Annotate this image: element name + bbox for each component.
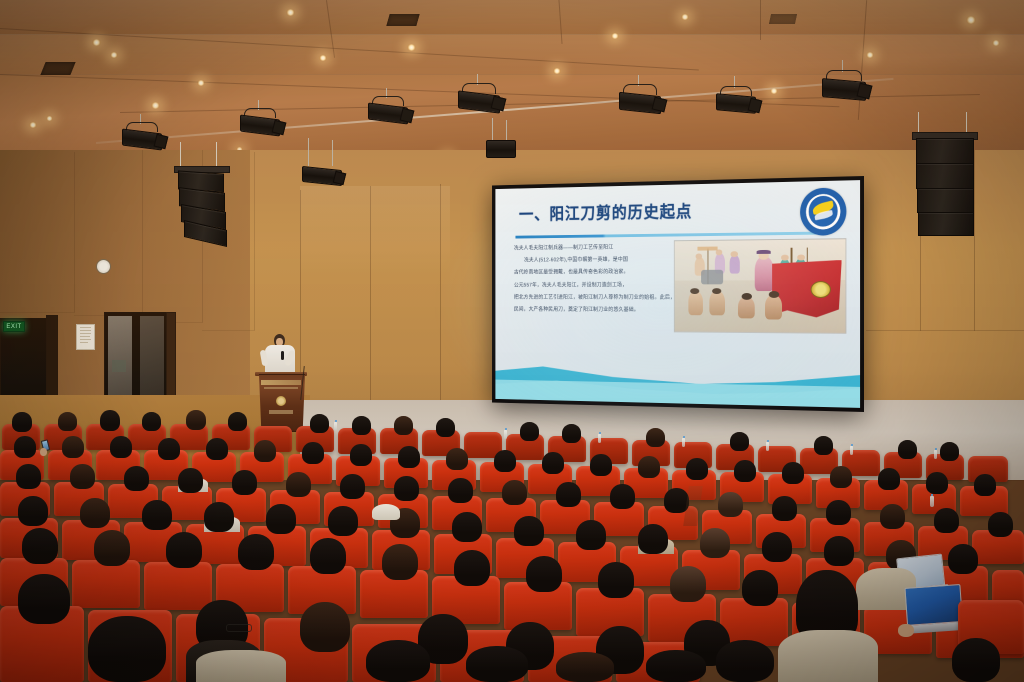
ceiling-vent xyxy=(769,14,797,24)
ceiling-downlight xyxy=(866,52,874,58)
slide-body-line: 古代岭南地区最受拥戴，也最具传奇色彩的政治家。 xyxy=(514,269,676,276)
ceiling-downlight xyxy=(553,68,561,74)
stage-light xyxy=(617,86,665,117)
audience-member xyxy=(328,506,358,536)
audience-member xyxy=(436,418,455,437)
audience-member xyxy=(366,640,430,682)
illustration-craftsman xyxy=(710,292,725,316)
illustration-figure-head xyxy=(741,293,751,299)
audience-member xyxy=(772,496,797,521)
audience-member xyxy=(952,638,1000,682)
illustration-figure-head xyxy=(797,255,805,261)
water-bottle xyxy=(504,430,507,439)
projection-screen: 一、阳江刀剪的历史起点 冼夫人毛夫阳江制兵器——制刀工艺传至阳江 冼夫人(512… xyxy=(492,176,864,412)
wall-highlight xyxy=(300,186,450,276)
ceiling-downlight xyxy=(92,39,101,46)
audience-cap xyxy=(372,504,400,520)
water-bottle xyxy=(682,438,685,447)
audience-member xyxy=(926,472,948,494)
audience-member xyxy=(302,442,324,464)
audience-member xyxy=(526,556,562,592)
podium-crest-icon xyxy=(276,396,286,406)
seat[interactable] xyxy=(72,560,140,608)
audience-member xyxy=(286,472,311,497)
audience-member xyxy=(254,440,276,462)
audience-member xyxy=(762,532,792,562)
eyeglasses xyxy=(226,624,252,632)
audience-member xyxy=(18,496,48,526)
audience-member xyxy=(80,498,110,528)
illustration-figure-head xyxy=(731,252,738,257)
water-bottle xyxy=(850,446,853,455)
audience-member xyxy=(18,574,70,624)
water-bottle xyxy=(766,442,769,451)
slide-heading-line: 冼夫人毛夫阳江制兵器——制刀工艺传至阳江 xyxy=(514,244,676,252)
audience-member xyxy=(610,484,635,509)
audience-member xyxy=(988,512,1013,537)
audience-member xyxy=(204,502,234,532)
audience-member xyxy=(598,562,634,598)
audience-member xyxy=(238,534,274,570)
illustration-leader xyxy=(755,257,774,292)
ceiling-downlight xyxy=(407,44,416,51)
audience-member xyxy=(830,466,852,488)
audience-member xyxy=(638,524,668,554)
audience-member xyxy=(898,440,917,459)
audience-member xyxy=(62,436,84,458)
audience-member xyxy=(448,478,473,503)
microphone-icon xyxy=(281,351,284,360)
line-array-speaker-left xyxy=(172,142,232,246)
audience-member xyxy=(646,428,665,447)
audience-member xyxy=(542,452,564,474)
audience-member xyxy=(576,520,606,550)
ceiling-downlight xyxy=(29,122,37,128)
ceiling-downlight xyxy=(319,55,327,61)
audience-member xyxy=(814,436,833,455)
audience-member xyxy=(142,500,172,530)
audience-member xyxy=(394,476,419,501)
door-interior-object xyxy=(112,360,126,372)
audience-member xyxy=(454,550,490,586)
audience-member xyxy=(158,438,180,460)
audience-member xyxy=(730,432,749,451)
audience-member xyxy=(948,544,978,574)
illustration-figure xyxy=(730,255,740,273)
audience-member xyxy=(352,416,371,435)
audience-member xyxy=(670,566,706,602)
illustration-craftsman xyxy=(738,297,755,319)
ceiling-downlight xyxy=(286,9,295,16)
stage-light xyxy=(820,72,870,104)
university-emblem-icon xyxy=(800,187,846,235)
seat[interactable] xyxy=(144,562,212,610)
audience-member xyxy=(58,412,77,431)
audience-member xyxy=(310,538,346,574)
audience-member xyxy=(700,528,730,558)
audience-member xyxy=(382,544,418,580)
audience-member xyxy=(824,536,854,566)
audience-member xyxy=(70,464,95,489)
audience-member xyxy=(340,474,365,499)
podium-name-plate xyxy=(261,380,301,385)
audience-member xyxy=(310,414,329,433)
illustration-craftsman xyxy=(688,292,703,315)
audience-member xyxy=(514,516,544,546)
stage-light xyxy=(238,110,284,140)
audience-member xyxy=(166,532,202,568)
stage-light xyxy=(714,88,760,118)
audience-member xyxy=(716,640,774,682)
audience-member xyxy=(12,412,32,432)
audience-member xyxy=(782,462,804,484)
illustration-craftsman xyxy=(765,295,782,319)
audience-member xyxy=(934,508,959,533)
audience-member xyxy=(686,458,708,480)
illustration-banner xyxy=(772,260,842,318)
illustration-anvil xyxy=(701,270,723,285)
audience-member xyxy=(940,442,959,461)
audience-member xyxy=(638,456,660,478)
audience-member xyxy=(100,410,120,431)
wall-notice xyxy=(76,324,95,350)
ceiling-vent xyxy=(386,14,419,26)
podium-area xyxy=(252,330,318,430)
ceiling-downlight xyxy=(151,102,160,109)
illustration-banner-emblem xyxy=(810,281,830,298)
audience-member xyxy=(94,530,130,566)
audience-member xyxy=(520,422,539,441)
audience-member xyxy=(110,436,132,458)
slide-illustration xyxy=(674,238,846,333)
audience-hand xyxy=(40,448,47,456)
ceiling-downlight xyxy=(46,116,53,121)
audience-member xyxy=(452,512,482,542)
audience-member xyxy=(350,444,372,466)
slide-title: 一、阳江刀剪的历史起点 xyxy=(519,197,692,224)
audience-member xyxy=(186,410,206,430)
audience-member xyxy=(88,616,166,682)
ceiling-downlight xyxy=(966,16,976,24)
illustration-figure-head xyxy=(769,291,779,297)
stage-light xyxy=(300,166,344,194)
audience-member xyxy=(718,492,743,517)
audience-member xyxy=(394,416,413,435)
slide-body-text: 冼夫人毛夫阳江制兵器——制刀工艺传至阳江 冼夫人(512-602年),中国巾帼第… xyxy=(514,244,676,321)
stage-light xyxy=(120,124,166,154)
audience-member xyxy=(266,504,296,534)
ceiling-downlight xyxy=(110,52,118,58)
podium-lower-plate xyxy=(269,410,293,414)
line-array-speaker-right xyxy=(908,112,982,238)
exit-sign: EXIT xyxy=(3,321,25,332)
audience-member xyxy=(562,424,581,443)
podium-subtitle-plate xyxy=(264,387,298,389)
illustration-figure-head xyxy=(781,255,789,261)
wall-panel xyxy=(0,152,75,313)
audience-member xyxy=(22,528,58,564)
audience-member xyxy=(646,650,706,682)
water-bottle xyxy=(930,496,934,507)
water-bottle xyxy=(598,434,601,443)
audience-shoulders xyxy=(778,630,878,682)
audience-member xyxy=(494,450,516,472)
illustration-headdress xyxy=(757,250,771,254)
audience-member xyxy=(880,504,905,529)
audience-member xyxy=(178,468,203,493)
audience-member xyxy=(232,470,257,495)
audience-member xyxy=(300,602,350,652)
ceiling-panel xyxy=(0,0,1024,35)
audience-member xyxy=(124,466,149,491)
presentation-slide: 一、阳江刀剪的历史起点 冼夫人毛夫阳江制兵器——制刀工艺传至阳江 冼夫人(512… xyxy=(495,180,860,408)
audience-member xyxy=(556,652,614,682)
ceiling-downlight xyxy=(197,80,205,86)
auditorium-photo: EXIT xyxy=(0,0,1024,682)
audience-member xyxy=(502,480,527,505)
slide-body-line: 冼夫人(512-602年),中国巾帼第一英雄，是中国 xyxy=(514,257,676,265)
audience-member xyxy=(16,464,41,489)
ceiling-vent xyxy=(40,62,75,75)
audience-member xyxy=(826,500,851,525)
wall-clock-icon xyxy=(96,259,111,274)
ceiling-seam xyxy=(760,0,761,40)
illustration-awning xyxy=(698,246,718,251)
water-bottle xyxy=(334,422,337,431)
ceiling-downlight xyxy=(681,14,689,20)
audience-member xyxy=(142,412,161,431)
audience-member xyxy=(228,412,247,431)
audience-shoulders xyxy=(196,650,286,682)
audience-member xyxy=(742,570,778,606)
stage-light xyxy=(456,85,504,116)
slide-body-line: 公元557年，冼夫人毛夫阳江，并设制刀造剑工场， xyxy=(514,282,676,289)
stage-light xyxy=(366,98,412,128)
wall-panel xyxy=(74,150,143,316)
exit-sign-label: EXIT xyxy=(6,324,21,330)
audience-member xyxy=(14,436,36,458)
water-bottle xyxy=(934,450,937,459)
audience-member xyxy=(590,454,612,476)
audience-hand xyxy=(898,624,914,637)
audience-member xyxy=(974,474,996,496)
audience-member xyxy=(446,448,468,470)
audience-member xyxy=(734,460,756,482)
audience-member xyxy=(398,446,420,468)
ceiling-downlight xyxy=(611,33,619,39)
audience-member xyxy=(556,482,581,507)
ceiling-downlight xyxy=(992,40,1000,46)
audience-member xyxy=(206,438,228,460)
audience-member xyxy=(466,646,528,682)
ceiling-projector xyxy=(486,140,514,160)
audience-member xyxy=(878,468,900,490)
title-underline xyxy=(516,232,821,239)
illustration-figure-head xyxy=(696,254,703,259)
